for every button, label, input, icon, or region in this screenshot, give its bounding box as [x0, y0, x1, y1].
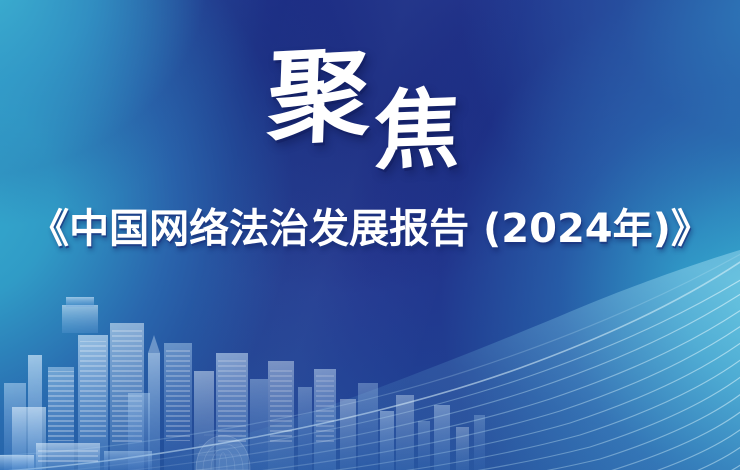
banner-title: 《中国网络法治发展报告 (2024年)》	[29, 206, 711, 253]
calligraphy-char-jiao: 焦	[372, 87, 461, 176]
promo-banner: 聚 焦 《中国网络法治发展报告 (2024年)》	[0, 0, 740, 470]
calligraphy-char-ju: 聚	[266, 43, 372, 150]
skyline-buildings	[0, 297, 485, 470]
city-skyline-silhouette	[0, 295, 740, 470]
calligraphy-kicker: 聚 焦	[0, 0, 740, 210]
banner-title-container: 《中国网络法治发展报告 (2024年)》	[0, 206, 740, 253]
